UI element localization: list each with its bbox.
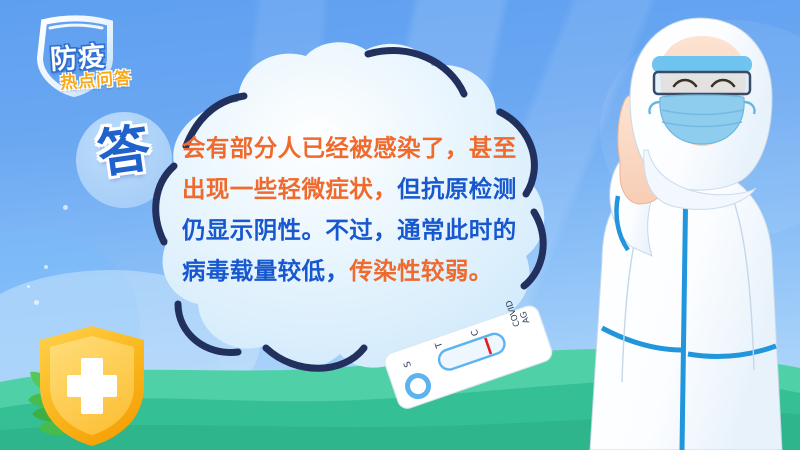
background-dot: [63, 205, 68, 210]
background-dot: [34, 300, 39, 305]
medical-worker-illustration: [556, 10, 800, 450]
antigen-test-kit: S T C COVID-19 AG: [382, 300, 557, 418]
health-shield: [22, 318, 162, 450]
poster-canvas: 防疫 热点问答 答 会有部分人已经: [0, 0, 800, 450]
answer-text: 会有部分人已经被感染了，甚至出现一些轻微症状，但抗原检测仍显示阴性。不过，通常此…: [182, 128, 532, 292]
antigen-test-kit-icon: S T C COVID-19 AG: [382, 300, 557, 418]
background-dot: [44, 265, 48, 269]
medical-worker-ppe-icon: [556, 10, 800, 450]
health-shield-icon: [22, 318, 162, 450]
background-dot: [27, 285, 30, 288]
answer-text-segment-3: 传染性较弱。: [349, 257, 492, 285]
